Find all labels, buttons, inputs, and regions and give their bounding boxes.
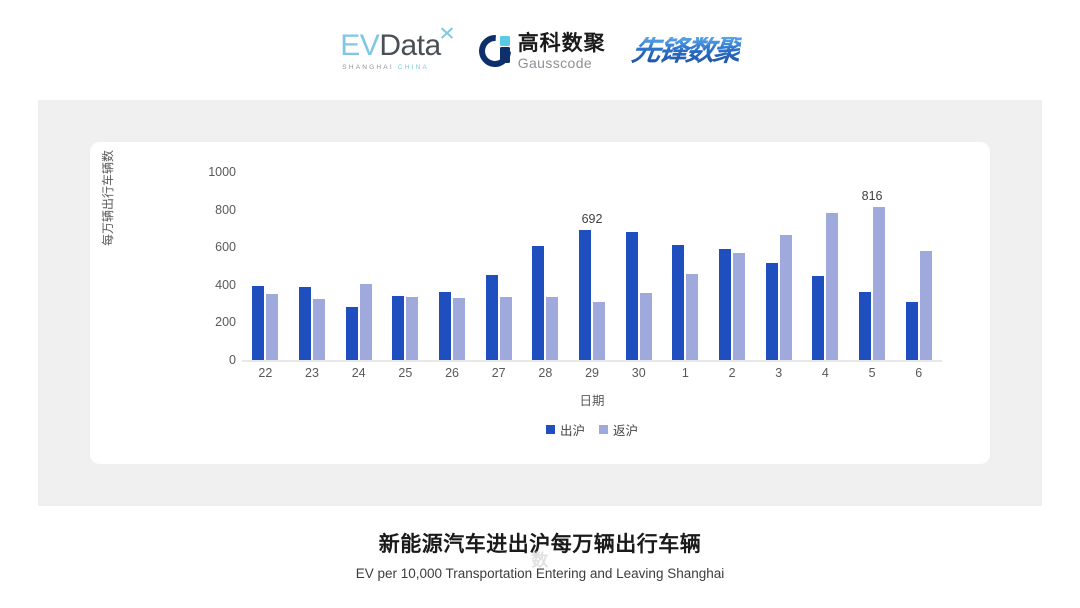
bar-group: 816 [849, 172, 896, 360]
y-axis-title: 每万辆出行车辆数 [99, 150, 116, 246]
bar-返沪-2[interactable] [733, 253, 745, 360]
evdata-tagline-china: CHINA [398, 65, 429, 72]
caption-ghost-text: 数 [531, 546, 549, 571]
bar-group [289, 172, 336, 360]
logo-bar: EVData ✕ SHANGHAI CHINA 高科数聚 Gausscode 先… [0, 22, 1080, 80]
cross-icon: ✕ [438, 25, 455, 44]
bar-返沪-24[interactable] [360, 284, 372, 360]
bar-group [242, 172, 289, 360]
bar-返沪-27[interactable] [500, 297, 512, 360]
x-axis-ticks: 222324252627282930123456 [242, 366, 942, 388]
bar-出沪-4[interactable] [812, 276, 824, 360]
y-axis-ticks: 10008006004002000 [190, 142, 236, 464]
bar-出沪-24[interactable] [346, 307, 358, 360]
x-tick-label: 1 [662, 366, 709, 388]
legend-swatch-icon [599, 425, 608, 434]
evdata-ev-text: EV [340, 31, 379, 61]
bar-返沪-1[interactable] [686, 274, 698, 360]
y-tick-label: 1000 [196, 165, 236, 179]
bar-返沪-22[interactable] [266, 294, 278, 360]
legend-item-出沪[interactable]: 出沪 [546, 420, 585, 439]
bar-返沪-6[interactable] [920, 251, 932, 360]
evdata-logo: EVData ✕ SHANGHAI CHINA [340, 31, 452, 72]
bar-出沪-5[interactable] [859, 292, 871, 360]
bar-出沪-23[interactable] [299, 287, 311, 360]
gausscode-logo: 高科数聚 Gausscode [479, 33, 606, 70]
y-tick-label: 0 [196, 353, 236, 367]
x-tick-label: 24 [335, 366, 382, 388]
figure-caption: 新能源汽车进出沪每万辆出行车辆 数 EV per 10,000 Transpor… [0, 528, 1080, 581]
bar-返沪-23[interactable] [313, 299, 325, 360]
x-tick-label: 2 [709, 366, 756, 388]
chart-card: 每万辆出行车辆数 10008006004002000 692816 222324… [90, 142, 990, 464]
x-tick-label: 26 [429, 366, 476, 388]
bar-返沪-4[interactable] [826, 213, 838, 360]
y-tick-label: 400 [196, 278, 236, 292]
bar-出沪-22[interactable] [252, 286, 264, 360]
legend-item-返沪[interactable]: 返沪 [599, 420, 638, 439]
bar-group [522, 172, 569, 360]
bar-group [382, 172, 429, 360]
bar-返沪-30[interactable] [640, 293, 652, 360]
bar-出沪-27[interactable] [486, 275, 498, 360]
x-axis-line [242, 360, 942, 362]
bar-group [895, 172, 942, 360]
bar-返沪-25[interactable] [406, 297, 418, 360]
legend-label: 返沪 [613, 420, 638, 439]
chart-legend: 出沪返沪 [242, 420, 942, 439]
bar-group [709, 172, 756, 360]
bar-出沪-30[interactable] [626, 232, 638, 360]
xianfeng-cn-text: 先锋数聚 [630, 37, 742, 66]
bar-group [335, 172, 382, 360]
bar-出沪-2[interactable] [719, 249, 731, 360]
bar-返沪-3[interactable] [780, 235, 792, 360]
bar-group [475, 172, 522, 360]
gausscode-en-text: Gausscode [518, 56, 606, 70]
legend-label: 出沪 [560, 420, 585, 439]
slide-page: EVData ✕ SHANGHAI CHINA 高科数聚 Gausscode 先… [0, 0, 1080, 608]
gausscode-cn-text: 高科数聚 [518, 33, 606, 54]
x-tick-label: 4 [802, 366, 849, 388]
evdata-tagline: SHANGHAI CHINA [340, 65, 429, 72]
bar-group: 692 [569, 172, 616, 360]
bar-出沪-1[interactable] [672, 245, 684, 360]
x-tick-label: 6 [895, 366, 942, 388]
bar-group [662, 172, 709, 360]
bar-出沪-6[interactable] [906, 302, 918, 360]
bar-出沪-25[interactable] [392, 296, 404, 360]
x-tick-label: 29 [569, 366, 616, 388]
gausscode-mark-icon [479, 35, 511, 67]
plot-area: 692816 [242, 172, 942, 360]
chart-panel: 每万辆出行车辆数 10008006004002000 692816 222324… [38, 100, 1042, 506]
bar-出沪-28[interactable] [532, 246, 544, 360]
y-tick-label: 200 [196, 315, 236, 329]
data-label: 816 [862, 189, 883, 203]
x-tick-label: 23 [289, 366, 336, 388]
bar-group [615, 172, 662, 360]
y-tick-label: 600 [196, 240, 236, 254]
bar-出沪-26[interactable] [439, 292, 451, 360]
bar-返沪-26[interactable] [453, 298, 465, 360]
grouped-bar-chart: 每万辆出行车辆数 10008006004002000 692816 222324… [90, 142, 990, 464]
evdata-wordmark: EVData ✕ [340, 31, 440, 61]
x-tick-label: 22 [242, 366, 289, 388]
evdata-tagline-shanghai: SHANGHAI [342, 65, 394, 72]
bar-出沪-29[interactable] [579, 230, 591, 360]
x-axis-title: 日期 [242, 390, 942, 409]
bar-group [429, 172, 476, 360]
bar-groups: 692816 [242, 172, 942, 360]
x-tick-label: 5 [849, 366, 896, 388]
caption-title-cn: 新能源汽车进出沪每万辆出行车辆 数 [0, 528, 1080, 558]
bar-返沪-29[interactable] [593, 302, 605, 360]
y-tick-label: 800 [196, 203, 236, 217]
legend-swatch-icon [546, 425, 555, 434]
x-tick-label: 27 [475, 366, 522, 388]
bar-group [755, 172, 802, 360]
data-label: 692 [582, 212, 603, 226]
bar-返沪-28[interactable] [546, 297, 558, 360]
bar-group [802, 172, 849, 360]
x-tick-label: 25 [382, 366, 429, 388]
bar-出沪-3[interactable] [766, 263, 778, 360]
bar-返沪-5[interactable] [873, 207, 885, 360]
xianfeng-logo: 先锋数聚 [632, 37, 740, 66]
x-tick-label: 30 [615, 366, 662, 388]
x-tick-label: 3 [755, 366, 802, 388]
evdata-data-text: Data [379, 31, 440, 61]
x-tick-label: 28 [522, 366, 569, 388]
